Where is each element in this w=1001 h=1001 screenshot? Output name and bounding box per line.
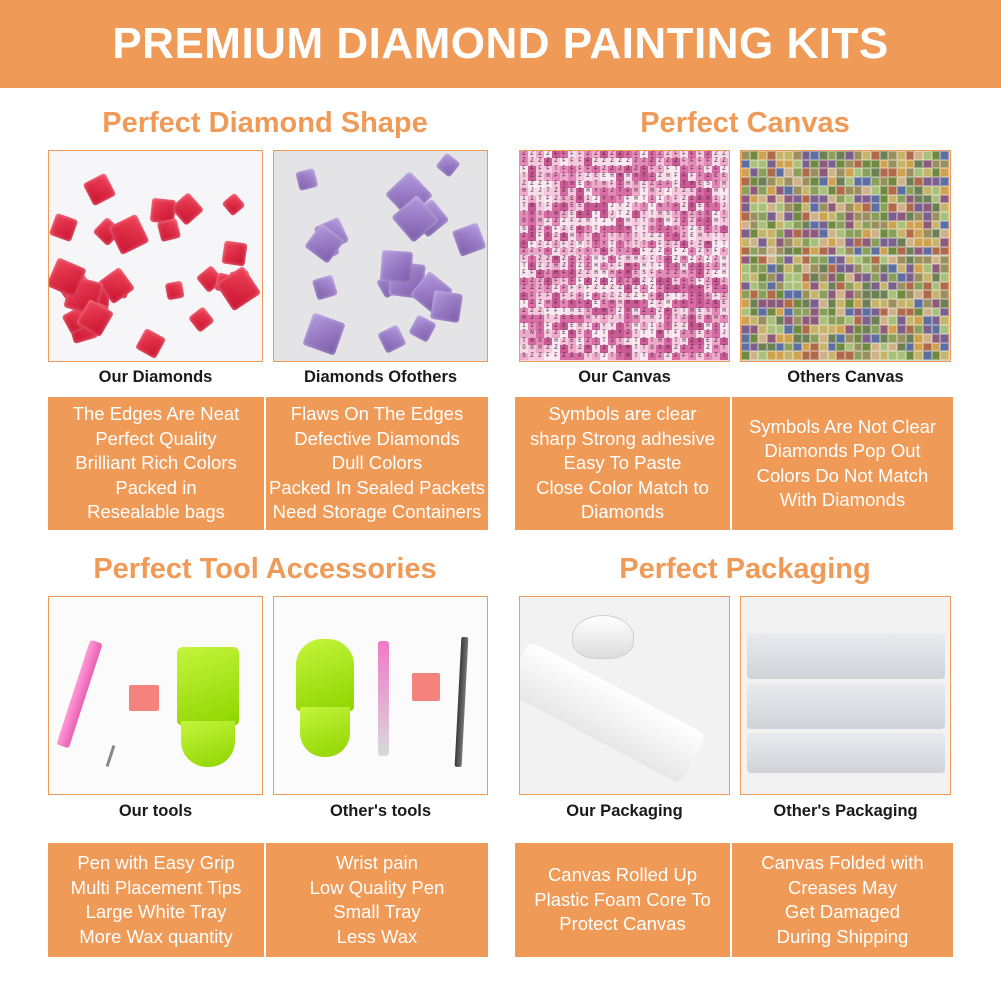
canvas-mosaic-cell	[819, 177, 828, 186]
canvas-mosaic-cell	[932, 308, 941, 317]
canvas-mosaic-cell	[923, 256, 932, 265]
canvas-mosaic-cell	[810, 290, 819, 299]
canvas-mosaic-cell	[888, 316, 897, 325]
canvas-mosaic-cell	[897, 316, 906, 325]
canvas-mosaic-cell	[880, 177, 889, 186]
canvas-mosaic-cell	[845, 247, 854, 256]
tray-icon	[177, 647, 239, 725]
canvas-mosaic-cell	[862, 351, 871, 360]
canvas-mosaic-cell	[923, 151, 932, 160]
canvas-mosaic-cell	[923, 221, 932, 230]
canvas-mosaic-cell	[750, 186, 759, 195]
canvas-mosaic-cell	[932, 151, 941, 160]
canvas-mosaic-cell	[802, 221, 811, 230]
canvas-mosaic-cell	[776, 264, 785, 273]
canvas-mosaic-cell	[750, 282, 759, 291]
canvas-mosaic-cell	[914, 247, 923, 256]
canvas-symbol-cell: F	[704, 353, 712, 360]
canvas-mosaic-cell	[767, 282, 776, 291]
canvas-mosaic-cell	[880, 238, 889, 247]
canvas-mosaic-cell	[862, 264, 871, 273]
canvas-mosaic-cell	[836, 195, 845, 204]
canvas-mosaic-cell	[880, 221, 889, 230]
canvas-mosaic-cell	[862, 273, 871, 282]
canvas-mosaic-cell	[741, 273, 750, 282]
canvas-mosaic-cell	[750, 151, 759, 160]
photo-others-packaging	[740, 596, 951, 795]
canvas-mosaic-cell	[880, 282, 889, 291]
infobox-our-tools: Pen with Easy Grip Multi Placement Tips …	[48, 843, 264, 957]
canvas-mosaic-cell	[897, 264, 906, 273]
canvas-mosaic-cell	[776, 195, 785, 204]
canvas-mosaic-cell	[914, 203, 923, 212]
canvas-mosaic-cell	[767, 334, 776, 343]
diamond-bead	[377, 324, 406, 353]
canvas-mosaic-cell	[776, 316, 785, 325]
canvas-mosaic-cell	[923, 238, 932, 247]
canvas-mosaic-cell	[845, 160, 854, 169]
canvas-mosaic-cell	[767, 308, 776, 317]
canvas-mosaic-cell	[906, 203, 915, 212]
canvas-mosaic-cell	[914, 195, 923, 204]
canvas-mosaic-cell	[940, 264, 949, 273]
canvas-mosaic-cell	[828, 290, 837, 299]
canvas-symbol-cell: S	[520, 353, 528, 360]
canvas-mosaic-cell	[810, 264, 819, 273]
canvas-mosaic-cell	[914, 282, 923, 291]
canvas-mosaic-cell	[888, 290, 897, 299]
canvas-mosaic-cell	[836, 273, 845, 282]
canvas-mosaic-cell	[862, 238, 871, 247]
canvas-mosaic-cell	[932, 247, 941, 256]
canvas-mosaic-cell	[802, 334, 811, 343]
canvas-mosaic-cell	[940, 282, 949, 291]
canvas-mosaic-cell	[862, 343, 871, 352]
canvas-mosaic-cell	[784, 160, 793, 169]
canvas-mosaic-cell	[880, 290, 889, 299]
canvas-mosaic-cell	[888, 177, 897, 186]
canvas-mosaic-cell	[862, 151, 871, 160]
canvas-mosaic-cell	[750, 229, 759, 238]
canvas-mosaic-cell	[845, 168, 854, 177]
canvas-mosaic-cell	[862, 256, 871, 265]
canvas-symbol-cell: T	[720, 353, 728, 360]
canvas-mosaic-cell	[836, 316, 845, 325]
canvas-mosaic-cell	[767, 195, 776, 204]
caption-others-diamonds: Diamonds Ofothers	[273, 368, 488, 387]
canvas-mosaic-cell	[871, 168, 880, 177]
canvas-mosaic-cell	[776, 160, 785, 169]
canvas-mosaic-cell	[845, 151, 854, 160]
canvas-mosaic-cell	[836, 299, 845, 308]
canvas-mosaic-cell	[836, 308, 845, 317]
canvas-symbol-cell: F	[672, 353, 680, 360]
canvas-symbol-cell: T	[632, 353, 640, 360]
canvas-mosaic-cell	[836, 229, 845, 238]
canvas-mosaic-cell	[758, 256, 767, 265]
canvas-mosaic-cell	[810, 282, 819, 291]
canvas-mosaic-cell	[914, 308, 923, 317]
canvas-mosaic-cell	[741, 256, 750, 265]
canvas-mosaic-cell	[888, 256, 897, 265]
canvas-mosaic-cell	[828, 238, 837, 247]
canvas-mosaic-cell	[836, 168, 845, 177]
canvas-mosaic-cell	[784, 334, 793, 343]
canvas-mosaic-cell	[776, 273, 785, 282]
canvas-mosaic-cell	[793, 299, 802, 308]
canvas-mosaic-cell	[854, 290, 863, 299]
canvas-mosaic-cell	[802, 256, 811, 265]
canvas-mosaic-cell	[854, 247, 863, 256]
canvas-mosaic-cell	[750, 212, 759, 221]
canvas-mosaic-cell	[750, 203, 759, 212]
diamond-bead	[430, 290, 463, 323]
canvas-mosaic-cell	[845, 212, 854, 221]
infobox-line: Need Storage Containers	[273, 500, 482, 525]
canvas-mosaic-cell	[906, 264, 915, 273]
canvas-mosaic-cell	[854, 177, 863, 186]
canvas-mosaic-cell	[758, 325, 767, 334]
canvas-mosaic-cell	[810, 247, 819, 256]
infobox-line: Protect Canvas	[559, 912, 685, 937]
canvas-mosaic-cell	[802, 168, 811, 177]
page-title: PREMIUM DIAMOND PAINTING KITS	[112, 19, 888, 69]
canvas-mosaic-cell	[767, 229, 776, 238]
diamond-bead	[83, 173, 117, 207]
canvas-mosaic-cell	[871, 334, 880, 343]
canvas-mosaic-cell	[750, 273, 759, 282]
canvas-mosaic-cell	[862, 186, 871, 195]
canvas-mosaic-cell	[932, 203, 941, 212]
canvas-mosaic-cell	[758, 343, 767, 352]
canvas-mosaic-cell	[854, 151, 863, 160]
canvas-mosaic-cell	[880, 343, 889, 352]
canvas-mosaic-cell	[888, 168, 897, 177]
canvas-mosaic-cell	[940, 334, 949, 343]
canvas-mosaic-cell	[802, 247, 811, 256]
canvas-mosaic-cell	[923, 212, 932, 221]
canvas-mosaic-cell	[793, 160, 802, 169]
canvas-mosaic-cell	[836, 177, 845, 186]
canvas-mosaic-cell	[750, 247, 759, 256]
infobox-line: Brilliant Rich Colors	[75, 451, 236, 476]
canvas-mosaic-cell	[906, 168, 915, 177]
canvas-mosaic-cell	[880, 351, 889, 360]
infobox-line: Get Damaged	[785, 900, 900, 925]
infobox-line: Resealable bags	[87, 500, 225, 525]
canvas-mosaic-cell	[750, 160, 759, 169]
canvas-mosaic-cell	[836, 160, 845, 169]
canvas-mosaic-cell	[810, 316, 819, 325]
canvas-mosaic-cell	[828, 160, 837, 169]
infobox-line: Packed in	[115, 476, 196, 501]
canvas-mosaic-cell	[776, 168, 785, 177]
canvas-mosaic-cell	[767, 299, 776, 308]
tube-cap-icon	[572, 615, 634, 659]
canvas-mosaic-cell	[940, 273, 949, 282]
canvas-mosaic-cell	[923, 273, 932, 282]
canvas-mosaic-cell	[793, 351, 802, 360]
infobox-others-diamonds: Flaws On The Edges Defective Diamonds Du…	[266, 397, 488, 530]
canvas-mosaic-cell	[828, 177, 837, 186]
canvas-mosaic-cell	[758, 212, 767, 221]
canvas-mosaic-cell	[802, 299, 811, 308]
canvas-mosaic-cell	[776, 290, 785, 299]
infobox-line: Close Color Match to	[536, 476, 709, 501]
canvas-mosaic-cell	[923, 168, 932, 177]
canvas-mosaic-cell	[871, 299, 880, 308]
canvas-mosaic-cell	[776, 247, 785, 256]
canvas-mosaic-cell	[888, 203, 897, 212]
canvas-mosaic-cell	[906, 343, 915, 352]
canvas-mosaic-cell	[923, 177, 932, 186]
infobox-line: Colors Do Not Match	[757, 464, 929, 489]
canvas-mosaic-cell	[871, 203, 880, 212]
canvas-mosaic-cell	[767, 247, 776, 256]
canvas-symbol-cell: Z	[656, 353, 664, 360]
canvas-mosaic-cell	[880, 325, 889, 334]
infobox-line: Flaws On The Edges	[291, 402, 463, 427]
canvas-mosaic-cell	[932, 186, 941, 195]
canvas-mosaic-cell	[810, 343, 819, 352]
canvas-mosaic-cell	[854, 238, 863, 247]
canvas-mosaic-cell	[810, 221, 819, 230]
canvas-mosaic-cell	[784, 343, 793, 352]
bubble-mailer-icon	[747, 633, 945, 679]
canvas-mosaic-cell	[888, 325, 897, 334]
canvas-mosaic-cell	[923, 308, 932, 317]
canvas-mosaic-cell	[854, 229, 863, 238]
canvas-mosaic-cell	[767, 238, 776, 247]
canvas-mosaic-cell	[836, 212, 845, 221]
canvas-mosaic-cell	[906, 151, 915, 160]
diamond-bead	[435, 152, 460, 177]
canvas-mosaic-cell	[836, 282, 845, 291]
canvas-mosaic-cell	[784, 229, 793, 238]
infobox-our-packaging: Canvas Rolled Up Plastic Foam Core To Pr…	[515, 843, 730, 957]
canvas-mosaic-cell	[897, 299, 906, 308]
canvas-mosaic-cell	[828, 282, 837, 291]
canvas-mosaic-cell	[776, 238, 785, 247]
canvas-mosaic-cell	[793, 273, 802, 282]
canvas-mosaic-cell	[819, 238, 828, 247]
canvas-mosaic-cell	[767, 203, 776, 212]
canvas-mosaic-cell	[845, 290, 854, 299]
canvas-mosaic-cell	[836, 256, 845, 265]
canvas-mosaic-cell	[914, 168, 923, 177]
canvas-mosaic-cell	[758, 299, 767, 308]
canvas-mosaic-cell	[741, 168, 750, 177]
canvas-mosaic-cell	[854, 160, 863, 169]
canvas-mosaic-cell	[802, 308, 811, 317]
canvas-mosaic-cell	[880, 247, 889, 256]
diamond-bead	[452, 222, 486, 256]
canvas-symbol-cell: Z	[536, 353, 544, 360]
canvas-mosaic-cell	[862, 325, 871, 334]
canvas-mosaic-cell	[906, 247, 915, 256]
canvas-mosaic-cell	[845, 195, 854, 204]
canvas-mosaic-cell	[923, 264, 932, 273]
canvas-mosaic-cell	[810, 212, 819, 221]
caption-others-tools: Other's tools	[273, 802, 488, 821]
canvas-mosaic-cell	[914, 238, 923, 247]
canvas-mosaic-cell	[923, 247, 932, 256]
canvas-mosaic-cell	[836, 264, 845, 273]
infobox-our-diamonds: The Edges Are Neat Perfect Quality Brill…	[48, 397, 264, 530]
canvas-mosaic-cell	[758, 229, 767, 238]
low-quality-pen-icon	[378, 641, 389, 756]
canvas-mosaic-cell	[784, 238, 793, 247]
canvas-mosaic-cell	[758, 203, 767, 212]
canvas-mosaic-cell	[836, 325, 845, 334]
canvas-mosaic-cell	[741, 221, 750, 230]
canvas-mosaic-cell	[810, 334, 819, 343]
canvas-mosaic-cell	[845, 256, 854, 265]
canvas-mosaic-cell	[906, 325, 915, 334]
canvas-mosaic-cell	[828, 308, 837, 317]
canvas-mosaic-cell	[862, 177, 871, 186]
canvas-symbol-cell: J	[600, 353, 608, 360]
canvas-mosaic-cell	[836, 203, 845, 212]
canvas-mosaic-cell	[828, 203, 837, 212]
canvas-mosaic-cell	[819, 282, 828, 291]
canvas-mosaic-cell	[793, 282, 802, 291]
canvas-mosaic-cell	[862, 168, 871, 177]
canvas-mosaic-cell	[932, 273, 941, 282]
canvas-mosaic-cell	[767, 290, 776, 299]
canvas-mosaic-cell	[932, 229, 941, 238]
canvas-mosaic-cell	[793, 334, 802, 343]
canvas-mosaic-cell	[802, 290, 811, 299]
canvas-mosaic-cell	[741, 247, 750, 256]
canvas-mosaic-cell	[767, 186, 776, 195]
infobox-line: Symbols are clear	[548, 402, 696, 427]
canvas-mosaic-cell	[741, 316, 750, 325]
canvas-mosaic-cell	[802, 151, 811, 160]
canvas-mosaic-cell	[871, 195, 880, 204]
canvas-mosaic-cell	[784, 256, 793, 265]
canvas-mosaic-cell	[784, 247, 793, 256]
canvas-mosaic-cell	[880, 264, 889, 273]
canvas-mosaic-cell	[758, 290, 767, 299]
canvas-mosaic-cell	[828, 316, 837, 325]
canvas-mosaic-cell	[741, 238, 750, 247]
infobox-line: Small Tray	[333, 900, 420, 925]
canvas-mosaic-cell	[940, 186, 949, 195]
canvas-mosaic-cell	[758, 238, 767, 247]
canvas-mosaic-cell	[793, 238, 802, 247]
canvas-mosaic-cell	[897, 212, 906, 221]
canvas-mosaic-cell	[854, 264, 863, 273]
canvas-mosaic-cell	[897, 229, 906, 238]
small-tray-icon	[296, 639, 354, 711]
infobox-line: Perfect Quality	[95, 427, 216, 452]
canvas-mosaic-cell	[914, 325, 923, 334]
canvas-mosaic-cell	[758, 264, 767, 273]
infobox-line: With Diamonds	[780, 488, 905, 513]
infobox-line: Creases May	[788, 876, 897, 901]
canvas-mosaic-cell	[784, 273, 793, 282]
infobox-line: Less Wax	[337, 925, 418, 950]
canvas-mosaic-cell	[810, 168, 819, 177]
canvas-mosaic-cell	[741, 177, 750, 186]
section-title-canvas: Perfect Canvas	[510, 107, 980, 140]
canvas-mosaic-cell	[741, 195, 750, 204]
canvas-mosaic-cell	[802, 160, 811, 169]
canvas-mosaic-cell	[914, 299, 923, 308]
canvas-mosaic-cell	[750, 325, 759, 334]
canvas-mosaic-cell	[932, 168, 941, 177]
canvas-mosaic-cell	[854, 334, 863, 343]
canvas-mosaic-cell	[880, 151, 889, 160]
canvas-mosaic-cell	[845, 229, 854, 238]
canvas-mosaic-cell	[836, 186, 845, 195]
canvas-mosaic-cell	[819, 290, 828, 299]
canvas-mosaic-cell	[758, 168, 767, 177]
diamond-bead	[107, 214, 149, 256]
canvas-mosaic-cell	[940, 351, 949, 360]
canvas-mosaic-cell	[871, 325, 880, 334]
canvas-mosaic-cell	[932, 282, 941, 291]
canvas-mosaic-cell	[854, 221, 863, 230]
canvas-mosaic-cell	[914, 343, 923, 352]
canvas-mosaic-cell	[828, 195, 837, 204]
canvas-mosaic-cell	[793, 264, 802, 273]
canvas-mosaic-cell	[828, 264, 837, 273]
canvas-mosaic-cell	[862, 308, 871, 317]
canvas-mosaic-cell	[880, 186, 889, 195]
diamond-bead	[157, 218, 181, 242]
canvas-mosaic-cell	[871, 247, 880, 256]
canvas-mosaic-cell	[914, 334, 923, 343]
canvas-mosaic-cell	[836, 247, 845, 256]
canvas-mosaic-cell	[758, 273, 767, 282]
canvas-mosaic-cell	[854, 168, 863, 177]
canvas-mosaic-cell	[784, 264, 793, 273]
canvas-mosaic-cell	[810, 238, 819, 247]
canvas-mosaic-cell	[828, 221, 837, 230]
infobox-others-canvas: Symbols Are Not Clear Diamonds Pop Out C…	[732, 397, 953, 530]
canvas-mosaic-cell	[784, 325, 793, 334]
canvas-mosaic-cell	[880, 212, 889, 221]
canvas-mosaic-cell	[776, 343, 785, 352]
canvas-mosaic-cell	[914, 160, 923, 169]
canvas-mosaic-cell	[940, 238, 949, 247]
canvas-mosaic-cell	[940, 229, 949, 238]
canvas-mosaic-cell	[888, 282, 897, 291]
canvas-mosaic-cell	[793, 290, 802, 299]
photo-our-canvas: ZZZZFFFFZZZZZZZZZZZFFFFZZZZZZZZFFFFZZZZZ…	[519, 150, 730, 362]
canvas-mosaic-cell	[888, 351, 897, 360]
canvas-mosaic-cell	[776, 299, 785, 308]
canvas-mosaic-cell	[750, 351, 759, 360]
canvas-mosaic-cell	[828, 299, 837, 308]
caption-others-canvas: Others Canvas	[740, 368, 951, 387]
diamond-bead	[221, 240, 248, 267]
canvas-mosaic-cell	[776, 212, 785, 221]
canvas-mosaic-cell	[906, 221, 915, 230]
canvas-symbol-cell: E	[568, 353, 576, 360]
canvas-mosaic-cell	[932, 264, 941, 273]
canvas-mosaic-cell	[932, 177, 941, 186]
canvas-mosaic-cell	[862, 247, 871, 256]
canvas-symbol-cell: F	[544, 353, 552, 360]
canvas-mosaic-cell	[897, 290, 906, 299]
canvas-mosaic-cell	[914, 316, 923, 325]
canvas-mosaic-cell	[871, 256, 880, 265]
canvas-mosaic-cell	[793, 308, 802, 317]
canvas-mosaic-cell	[906, 186, 915, 195]
